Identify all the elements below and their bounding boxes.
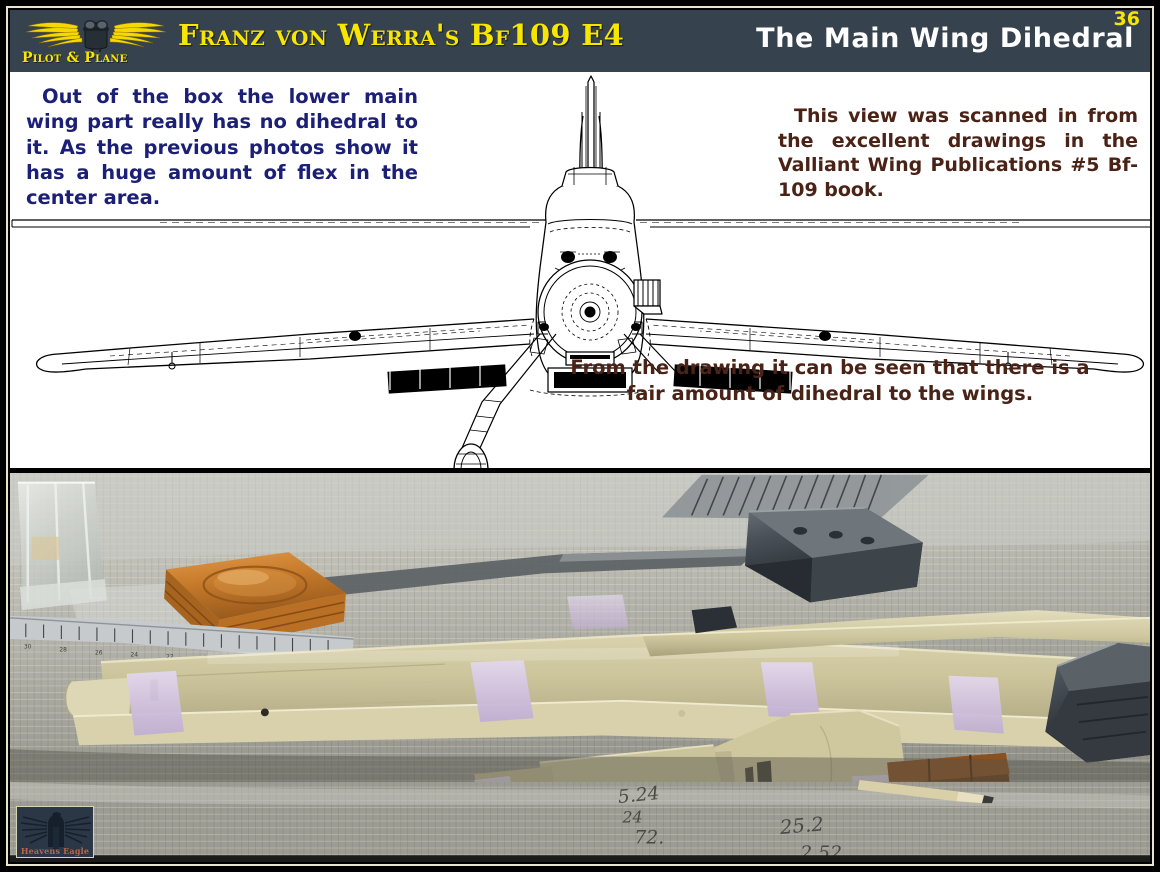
pilot-helmet-goggles-wings-icon [16, 12, 176, 52]
svg-text:28: 28 [59, 648, 67, 654]
svg-text:24: 24 [131, 652, 139, 658]
svg-text:30: 30 [24, 645, 32, 651]
page-number-badge: 36 [1114, 10, 1140, 30]
page-subtitle: The Main Wing Dihedral [756, 23, 1134, 54]
note-right: This view was scanned in from the excell… [778, 104, 1138, 203]
drawing-panel: Out of the box the lower main wing part … [10, 72, 1150, 468]
note-left: Out of the box the lower main wing part … [26, 84, 418, 211]
page-title: Franz von Werra's Bf109 E4 [178, 18, 624, 52]
page-frame: Pilot & Plane Franz von Werra's Bf109 E4… [6, 6, 1154, 866]
page-content: Pilot & Plane Franz von Werra's Bf109 E4… [10, 10, 1150, 862]
svg-text:72.: 72. [634, 828, 664, 849]
svg-text:25.2: 25.2 [778, 813, 825, 839]
page-root: Pilot & Plane Franz von Werra's Bf109 E4… [0, 0, 1160, 872]
note-bottom: From the drawing it can be seen that the… [570, 355, 1090, 406]
heavens-eagle-watermark: Heavens Eagle [16, 806, 94, 858]
svg-text:26: 26 [95, 651, 103, 657]
photo-canvas: 3028 2624 2220 1816 14 [10, 473, 1150, 862]
watermark-label: Heavens Eagle [17, 846, 93, 856]
pilot-and-plane-logo: Pilot & Plane [16, 10, 176, 72]
logo-label: Pilot & Plane [22, 50, 127, 66]
page-header: Pilot & Plane Franz von Werra's Bf109 E4… [10, 10, 1150, 72]
workbench-photo: 3028 2624 2220 1816 14 [10, 473, 1150, 862]
svg-text:24: 24 [621, 809, 642, 827]
svg-text:5.24: 5.24 [617, 783, 661, 808]
